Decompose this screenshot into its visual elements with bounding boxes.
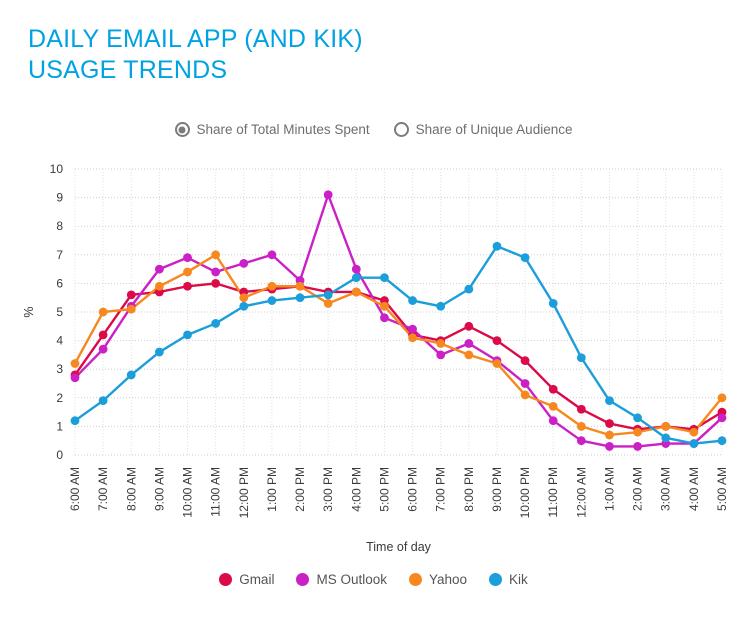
data-point-kik[interactable]	[661, 433, 670, 442]
legend-swatch-icon	[296, 573, 309, 586]
data-point-ms-outlook[interactable]	[155, 265, 164, 274]
data-point-kik[interactable]	[352, 273, 361, 282]
data-point-yahoo[interactable]	[549, 402, 558, 411]
x-axis-tick-label: 8:00 AM	[124, 467, 138, 511]
data-point-kik[interactable]	[127, 371, 136, 380]
data-point-ms-outlook[interactable]	[436, 351, 445, 360]
x-axis-tick-label: 1:00 PM	[265, 467, 279, 512]
data-point-kik[interactable]	[689, 439, 698, 448]
data-point-kik[interactable]	[324, 290, 333, 299]
data-point-kik[interactable]	[99, 396, 108, 405]
x-axis-tick-label: 12:00 AM	[574, 467, 588, 518]
x-axis-tick-label: 10:00 AM	[181, 467, 195, 518]
x-axis-tick-label: 10:00 PM	[518, 467, 532, 518]
x-axis-tick-label: 2:00 AM	[631, 467, 645, 511]
x-axis-tick-label: 3:00 AM	[659, 467, 673, 511]
data-point-ms-outlook[interactable]	[633, 442, 642, 451]
legend-swatch-icon	[219, 573, 232, 586]
y-axis-tick-label: 6	[56, 276, 63, 290]
data-point-kik[interactable]	[605, 396, 614, 405]
y-axis-tick-label: 3	[56, 362, 63, 376]
legend-item-gmail[interactable]: Gmail	[219, 572, 274, 587]
data-point-ms-outlook[interactable]	[521, 379, 530, 388]
y-axis-tick-label: 4	[56, 334, 63, 348]
y-axis-tick-label: 9	[56, 191, 63, 205]
y-axis-tick-label: 5	[56, 305, 63, 319]
data-point-yahoo[interactable]	[268, 282, 277, 291]
data-point-yahoo[interactable]	[239, 293, 248, 302]
legend-label: Yahoo	[429, 572, 467, 587]
line-chart-svg: 012345678910%6:00 AM7:00 AM8:00 AM9:00 A…	[0, 0, 747, 617]
legend-label: Gmail	[239, 572, 274, 587]
y-axis-tick-label: 1	[56, 419, 63, 433]
chart-legend: GmailMS OutlookYahooKik	[0, 572, 747, 587]
data-point-ms-outlook[interactable]	[380, 313, 389, 322]
x-axis-tick-label: 1:00 AM	[602, 467, 616, 511]
data-point-ms-outlook[interactable]	[239, 259, 248, 268]
data-point-ms-outlook[interactable]	[577, 436, 586, 445]
y-axis-tick-label: 10	[50, 162, 64, 176]
x-axis-tick-label: 4:00 AM	[687, 467, 701, 511]
data-point-yahoo[interactable]	[718, 393, 727, 402]
data-point-ms-outlook[interactable]	[605, 442, 614, 451]
data-point-gmail[interactable]	[605, 419, 614, 428]
y-axis-tick-label: 8	[56, 219, 63, 233]
data-point-gmail[interactable]	[521, 356, 530, 365]
data-point-yahoo[interactable]	[633, 428, 642, 437]
data-point-kik[interactable]	[408, 296, 417, 305]
data-point-kik[interactable]	[493, 242, 502, 251]
data-point-kik[interactable]	[296, 293, 305, 302]
legend-swatch-icon	[409, 573, 422, 586]
data-point-gmail[interactable]	[127, 290, 136, 299]
x-axis-tick-label: 5:00 AM	[715, 467, 729, 511]
data-point-kik[interactable]	[268, 296, 277, 305]
legend-item-ms-outlook[interactable]: MS Outlook	[296, 572, 387, 587]
data-point-gmail[interactable]	[183, 282, 192, 291]
x-axis-tick-label: 6:00 PM	[406, 467, 420, 512]
data-point-kik[interactable]	[521, 253, 530, 262]
data-point-yahoo[interactable]	[99, 308, 108, 317]
x-axis-tick-label: 8:00 PM	[462, 467, 476, 512]
x-axis-tick-label: 12:00 PM	[237, 467, 251, 518]
data-point-yahoo[interactable]	[296, 282, 305, 291]
data-point-gmail[interactable]	[464, 322, 473, 331]
legend-item-kik[interactable]: Kik	[489, 572, 528, 587]
data-point-yahoo[interactable]	[436, 339, 445, 348]
data-point-kik[interactable]	[718, 436, 727, 445]
data-point-ms-outlook[interactable]	[549, 416, 558, 425]
data-point-yahoo[interactable]	[521, 391, 530, 400]
data-point-yahoo[interactable]	[689, 428, 698, 437]
legend-label: MS Outlook	[316, 572, 387, 587]
data-point-ms-outlook[interactable]	[99, 345, 108, 354]
data-point-gmail[interactable]	[211, 279, 220, 288]
data-point-kik[interactable]	[380, 273, 389, 282]
legend-swatch-icon	[489, 573, 502, 586]
data-point-kik[interactable]	[155, 348, 164, 357]
data-point-ms-outlook[interactable]	[718, 413, 727, 422]
legend-label: Kik	[509, 572, 528, 587]
y-axis-title: %	[22, 306, 36, 317]
chart-plot-area: 012345678910%6:00 AM7:00 AM8:00 AM9:00 A…	[0, 0, 747, 617]
x-axis-tick-label: 2:00 PM	[293, 467, 307, 512]
data-point-yahoo[interactable]	[324, 299, 333, 308]
data-point-yahoo[interactable]	[408, 333, 417, 342]
data-point-kik[interactable]	[436, 302, 445, 311]
data-point-ms-outlook[interactable]	[464, 339, 473, 348]
x-axis-tick-label: 11:00 PM	[546, 467, 560, 517]
data-point-kik[interactable]	[183, 330, 192, 339]
data-point-gmail[interactable]	[99, 330, 108, 339]
data-point-kik[interactable]	[71, 416, 80, 425]
data-point-ms-outlook[interactable]	[71, 373, 80, 382]
data-point-gmail[interactable]	[577, 405, 586, 414]
data-point-kik[interactable]	[239, 302, 248, 311]
data-point-yahoo[interactable]	[661, 422, 670, 431]
data-point-kik[interactable]	[464, 285, 473, 294]
series-line-gmail	[75, 283, 722, 429]
data-point-yahoo[interactable]	[352, 288, 361, 297]
x-axis-tick-label: 6:00 AM	[68, 467, 82, 511]
data-point-yahoo[interactable]	[380, 302, 389, 311]
data-point-yahoo[interactable]	[155, 282, 164, 291]
data-point-yahoo[interactable]	[211, 250, 220, 259]
data-point-yahoo[interactable]	[605, 431, 614, 440]
data-point-yahoo[interactable]	[577, 422, 586, 431]
x-axis-tick-label: 5:00 PM	[377, 467, 391, 512]
data-point-yahoo[interactable]	[493, 359, 502, 368]
data-point-gmail[interactable]	[549, 385, 558, 394]
data-point-ms-outlook[interactable]	[211, 268, 220, 277]
x-axis-tick-label: 9:00 AM	[152, 467, 166, 511]
x-axis-tick-label: 7:00 PM	[434, 467, 448, 512]
data-point-yahoo[interactable]	[464, 351, 473, 360]
y-axis-tick-label: 7	[56, 248, 63, 262]
x-axis-tick-label: 9:00 PM	[490, 467, 504, 512]
x-axis-tick-label: 4:00 PM	[349, 467, 363, 512]
data-point-ms-outlook[interactable]	[324, 190, 333, 199]
x-axis-tick-label: 7:00 AM	[96, 467, 110, 511]
x-axis-tick-label: 3:00 PM	[321, 467, 335, 512]
x-axis-tick-label: 11:00 AM	[209, 467, 223, 517]
y-axis-tick-label: 0	[56, 448, 63, 462]
legend-item-yahoo[interactable]: Yahoo	[409, 572, 467, 587]
data-point-kik[interactable]	[577, 353, 586, 362]
data-point-kik[interactable]	[211, 319, 220, 328]
series-line-kik	[75, 246, 722, 443]
data-point-ms-outlook[interactable]	[183, 253, 192, 262]
data-point-ms-outlook[interactable]	[268, 250, 277, 259]
data-point-kik[interactable]	[549, 299, 558, 308]
data-point-yahoo[interactable]	[127, 305, 136, 314]
data-point-yahoo[interactable]	[183, 268, 192, 277]
y-axis-tick-label: 2	[56, 391, 63, 405]
data-point-kik[interactable]	[633, 413, 642, 422]
data-point-ms-outlook[interactable]	[352, 265, 361, 274]
data-point-ms-outlook[interactable]	[408, 325, 417, 334]
data-point-gmail[interactable]	[493, 336, 502, 345]
x-axis-title: Time of day	[366, 540, 432, 554]
data-point-yahoo[interactable]	[71, 359, 80, 368]
